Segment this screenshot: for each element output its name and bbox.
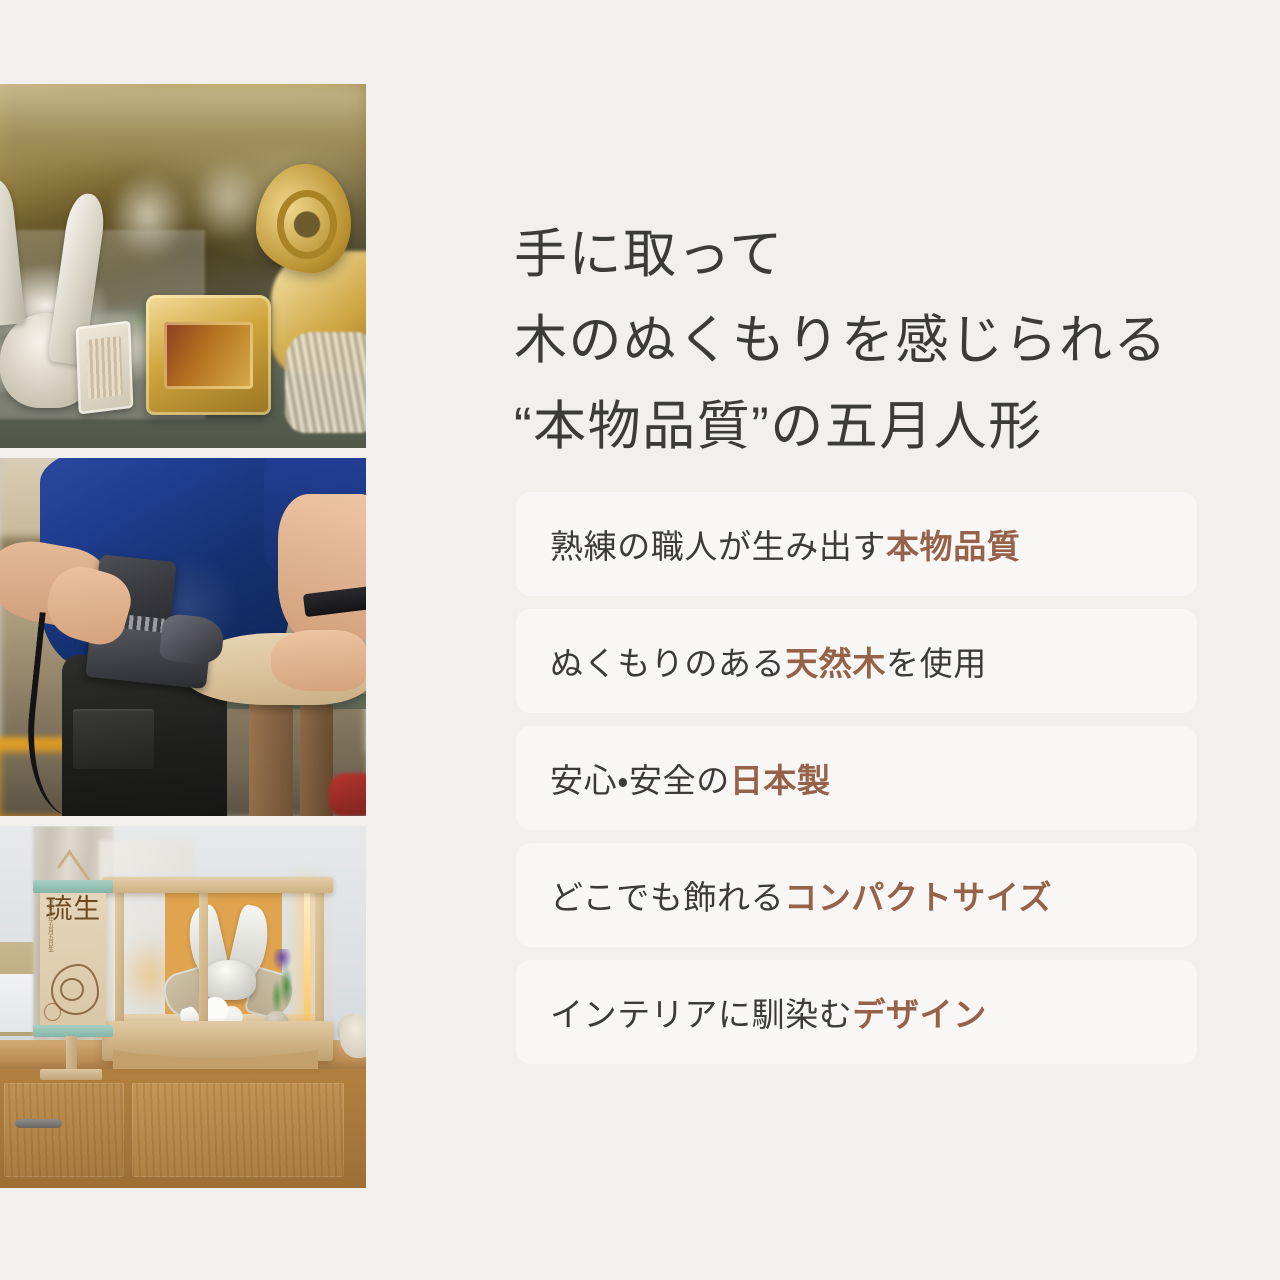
case-post-left <box>115 884 124 1032</box>
workbench-leg <box>249 705 293 816</box>
feature-text-plain: 熟練の職人が生み出す <box>550 528 886 565</box>
feature-text-plain: 安心・安全の <box>550 762 730 799</box>
silver-armor-plate <box>76 321 134 415</box>
plush-ornament <box>340 1014 366 1057</box>
page-headline: 手に取って 木のぬくもりを感じられる “本物品質”の五月人形 <box>514 212 1168 470</box>
scroll-stand-base <box>40 1069 102 1081</box>
feature-text-highlight: コンパクトサイズ <box>784 879 1052 916</box>
headline-line-3: “本物品質”の五月人形 <box>514 384 1168 470</box>
dresser-drawer-right <box>132 1083 344 1177</box>
feature-text-highlight: 本物品質 <box>886 528 1020 565</box>
feature-item: 安心・安全の日本製 <box>516 726 1197 830</box>
headline-line-2: 木のぬくもりを感じられる <box>514 298 1168 384</box>
red-object <box>329 773 366 816</box>
gold-helmet-piece <box>146 295 270 415</box>
scroll-bar-top <box>33 880 114 892</box>
wood-grain <box>4 1083 125 1177</box>
iris-flowers <box>264 949 301 1021</box>
right-arm <box>278 494 366 644</box>
content-column: 手に取って 木のぬくもりを感じられる “本物品質”の五月人形 熟練の職人が生み出… <box>514 0 1214 1280</box>
case-post-middle <box>199 884 208 1032</box>
workbench-leg-2 <box>300 705 333 816</box>
scroll-birthdate-text: 令和七年五月五日生 <box>46 898 53 952</box>
feature-text-plain-after: を使用 <box>886 645 987 682</box>
feature-text-plain: どこでも飾れる <box>550 879 784 916</box>
headline-line-1: 手に取って <box>514 212 1168 298</box>
feature-text-plain: ぬくもりのある <box>550 645 785 682</box>
craftsman-sanding-photo <box>0 458 366 816</box>
dresser-drawer-left <box>4 1083 125 1177</box>
feature-item: インテリアに馴染むデザイン <box>516 960 1197 1064</box>
armor-lacing-right <box>285 332 366 434</box>
scroll-seal <box>44 1003 61 1021</box>
feature-list: 熟練の職人が生み出す本物品質 ぬくもりのある天然木を使用 安心・安全の日本製 ど… <box>516 492 1197 1064</box>
scroll-stand-post <box>66 1036 77 1072</box>
feature-item: どこでも飾れるコンパクトサイズ <box>516 843 1197 947</box>
feature-text: どこでも飾れるコンパクトサイズ <box>550 871 1052 919</box>
feature-text: 安心・安全の日本製 <box>550 754 831 802</box>
feature-text-highlight: 日本製 <box>730 762 831 799</box>
case-post-right <box>315 884 324 1032</box>
photo-column: 琉生 令和七年五月五日生 <box>0 84 366 1188</box>
feature-text-plain: インテリアに馴染む <box>550 996 852 1033</box>
feature-text: インテリアに馴染むデザイン <box>550 988 987 1036</box>
feature-item: 熟練の職人が生み出す本物品質 <box>516 492 1197 596</box>
right-hand <box>271 630 366 691</box>
wood-grain <box>132 1083 344 1177</box>
display-case-photo: 琉生 令和七年五月五日生 <box>0 826 366 1188</box>
feature-text: ぬくもりのある天然木を使用 <box>550 637 987 685</box>
feature-item: ぬくもりのある天然木を使用 <box>516 609 1197 713</box>
case-apron <box>113 1050 318 1068</box>
led-light-strip <box>304 888 310 1033</box>
feature-text: 熟練の職人が生み出す本物品質 <box>550 520 1020 568</box>
case-top-rail <box>102 877 333 893</box>
drawer-handle <box>15 1119 63 1128</box>
feature-text-highlight: 天然木 <box>785 645 886 682</box>
feature-text-highlight: デザイン <box>852 996 986 1033</box>
armor-parts-photo <box>0 84 366 448</box>
